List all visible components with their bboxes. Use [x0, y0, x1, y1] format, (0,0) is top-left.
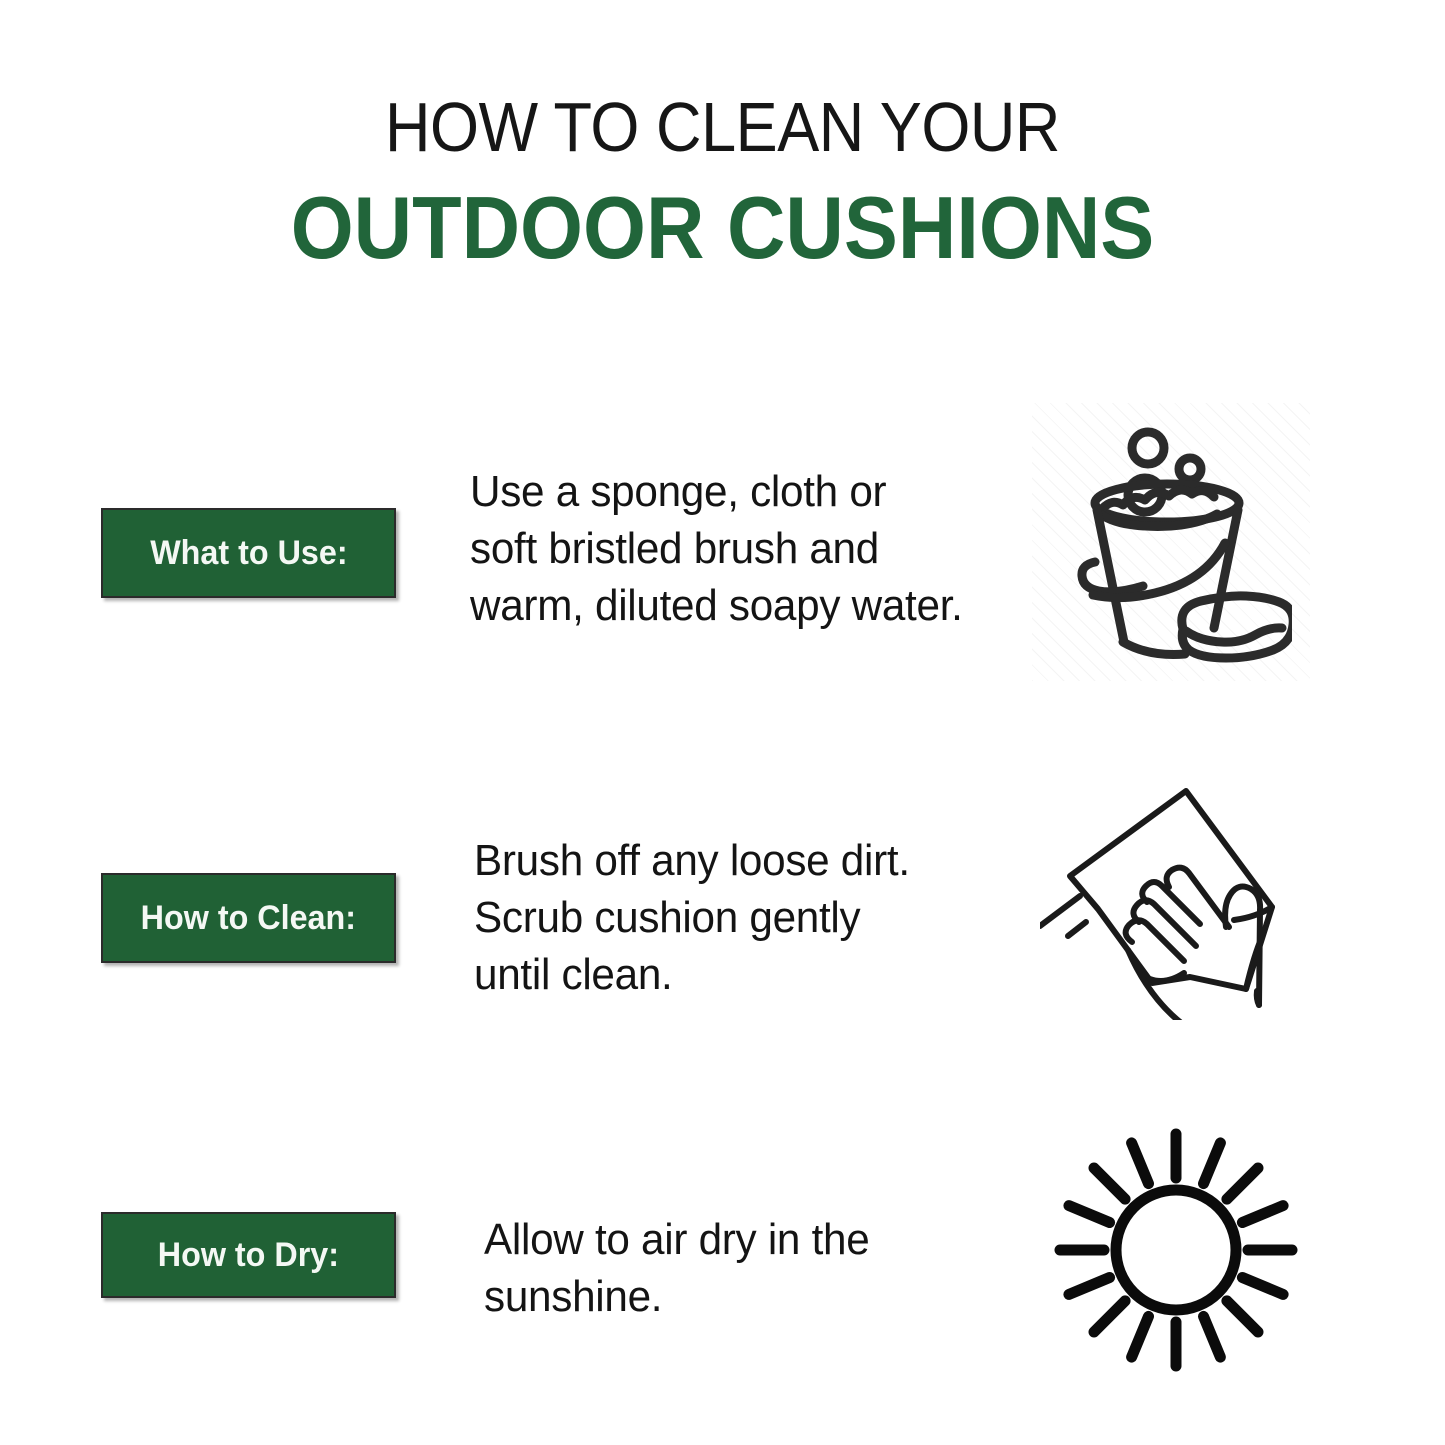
- hand-wiping-cloth-icon: [1040, 770, 1315, 1020]
- section-body-how-to-dry: Allow to air dry in the sunshine.: [484, 1211, 964, 1325]
- section-what-to-use: What to Use: Use a sponge, cloth or soft…: [0, 395, 1445, 695]
- section-how-to-clean: How to Clean: Brush off any loose dirt. …: [0, 760, 1445, 1060]
- section-body-how-to-clean: Brush off any loose dirt. Scrub cushion …: [474, 832, 973, 1004]
- section-label-how-to-clean: How to Clean:: [101, 873, 396, 963]
- section-label-text: How to Clean:: [141, 899, 356, 938]
- page-title-line-2: OUTDOOR CUSHIONS: [58, 184, 1387, 272]
- section-label-text: How to Dry:: [158, 1236, 339, 1275]
- sun-icon: [1046, 1120, 1306, 1380]
- infographic-page: HOW TO CLEAN YOUR OUTDOOR CUSHIONS What …: [0, 0, 1445, 1445]
- section-label-what-to-use: What to Use:: [101, 508, 396, 598]
- section-how-to-dry: How to Dry: Allow to air dry in the suns…: [0, 1105, 1445, 1405]
- section-label-text: What to Use:: [150, 534, 347, 573]
- page-header: HOW TO CLEAN YOUR OUTDOOR CUSHIONS: [0, 92, 1445, 272]
- bucket-with-sponge-icon: [1062, 415, 1292, 670]
- page-title-line-1: HOW TO CLEAN YOUR: [72, 92, 1373, 162]
- section-label-how-to-dry: How to Dry:: [101, 1212, 396, 1298]
- section-body-what-to-use: Use a sponge, cloth or soft bristled bru…: [470, 463, 1008, 635]
